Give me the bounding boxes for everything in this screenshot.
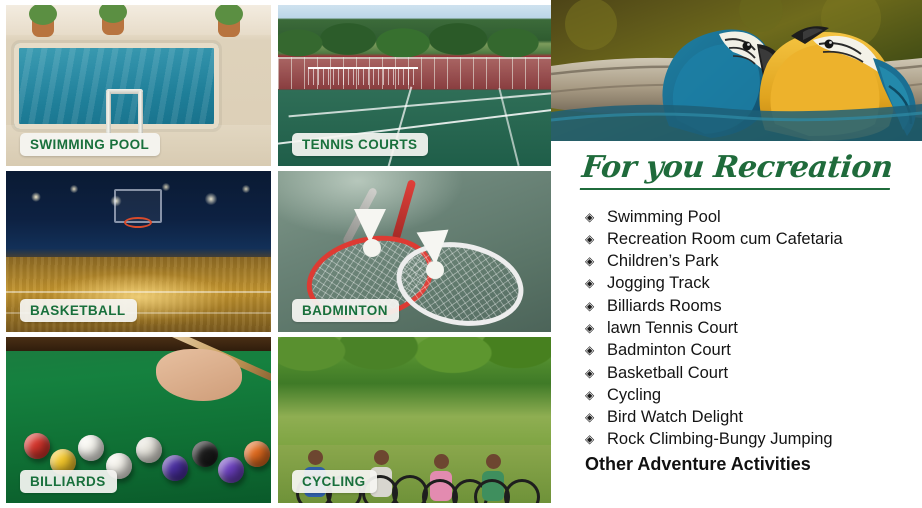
diamond-bullet-icon: ◈ [585, 406, 594, 428]
cyclist-head [374, 450, 389, 465]
diamond-bullet-icon: ◈ [585, 206, 594, 228]
list-item: ◈Children’s Park [585, 250, 922, 272]
list-item-label: Cycling [607, 386, 661, 404]
list-item-label: Swimming Pool [607, 208, 721, 226]
diamond-bullet-icon: ◈ [585, 272, 594, 294]
shuttlecock [354, 209, 386, 243]
list-item-label: Children’s Park [607, 252, 719, 270]
list-item: ◈Swimming Pool [585, 206, 922, 228]
amenities-list: ◈Swimming Pool ◈Recreation Room cum Cafe… [551, 206, 922, 451]
court-line [289, 87, 551, 118]
other-activities-label: Other Adventure Activities [585, 454, 922, 475]
billiard-ball [192, 441, 218, 467]
macaw-illustration [551, 0, 922, 141]
shuttlecock-cork [363, 239, 381, 257]
list-item-label: Rock Climbing-Bungy Jumping [607, 430, 833, 448]
recreation-text-panel: For you Recreation ◈Swimming Pool ◈Recre… [551, 141, 922, 508]
list-item: ◈Recreation Room cum Cafetaria [585, 228, 922, 250]
photo-label-tennis-courts: TENNIS COURTS [292, 133, 428, 157]
table-rail [6, 337, 271, 351]
cyclist-head [308, 450, 323, 465]
list-item-label: Recreation Room cum Cafetaria [607, 230, 843, 248]
cyclist-head [434, 454, 449, 469]
racket-handle [392, 179, 417, 241]
list-item-label: Billiards Rooms [607, 297, 722, 315]
hoop-rim [124, 217, 152, 228]
photo-card-tennis-courts[interactable]: TENNIS COURTS [278, 5, 551, 166]
player-hand [156, 349, 242, 401]
diamond-bullet-icon: ◈ [585, 250, 594, 272]
diamond-bullet-icon: ◈ [585, 317, 594, 339]
tree-canopy [278, 337, 551, 397]
pool-ladder-rail [106, 91, 111, 135]
court-line [498, 88, 519, 166]
photo-label-billiards: BILLIARDS [20, 470, 117, 494]
billiard-ball [218, 457, 244, 483]
diamond-bullet-icon: ◈ [585, 428, 594, 450]
billiard-ball [24, 433, 50, 459]
list-item: ◈Bird Watch Delight [585, 406, 922, 428]
billiard-ball [162, 455, 188, 481]
macaw-banner-image [551, 0, 922, 141]
billiard-ball [244, 441, 270, 467]
photo-card-basketball[interactable]: BASKETBALL [6, 171, 271, 332]
list-item: ◈Rock Climbing-Bungy Jumping [585, 428, 922, 450]
photo-label-basketball: BASKETBALL [20, 299, 137, 323]
photo-card-billiards[interactable]: BILLIARDS [6, 337, 271, 503]
photo-card-swimming-pool[interactable]: SWIMMING POOL [6, 5, 271, 166]
photo-label-swimming-pool: SWIMMING POOL [20, 133, 160, 157]
cyclist-head [486, 454, 501, 469]
list-item-label: lawn Tennis Court [607, 319, 738, 337]
shuttlecock-cork [426, 261, 444, 279]
photo-card-cycling[interactable]: CYCLING [278, 337, 551, 503]
diamond-bullet-icon: ◈ [585, 384, 594, 406]
photo-card-badminton[interactable]: BADMINTON [278, 171, 551, 332]
list-item: ◈Cycling [585, 384, 922, 406]
list-item-label: Basketball Court [607, 364, 728, 382]
list-item-label: Bird Watch Delight [607, 408, 743, 426]
cyclist [430, 454, 452, 501]
court-line [6, 291, 271, 293]
diamond-bullet-icon: ◈ [585, 339, 594, 361]
billiard-ball [136, 437, 162, 463]
diamond-bullet-icon: ◈ [585, 228, 594, 250]
list-item: ◈Billiards Rooms [585, 295, 922, 317]
list-item: ◈Jogging Track [585, 272, 922, 294]
list-item-label: Jogging Track [607, 274, 710, 292]
list-item: ◈Basketball Court [585, 362, 922, 384]
diamond-bullet-icon: ◈ [585, 362, 594, 384]
billiard-ball [78, 435, 104, 461]
pool-ladder-rail [138, 91, 143, 135]
list-item-label: Badminton Court [607, 341, 731, 359]
diamond-bullet-icon: ◈ [585, 295, 594, 317]
amenities-photo-grid: SWIMMING POOL TENNIS COURTS [6, 5, 551, 503]
recreation-amenities-slide: SWIMMING POOL TENNIS COURTS [0, 0, 922, 508]
list-item: ◈lawn Tennis Court [585, 317, 922, 339]
cyclist [482, 454, 504, 501]
photo-label-badminton: BADMINTON [292, 299, 399, 323]
list-item: ◈Badminton Court [585, 339, 922, 361]
pool-water [14, 43, 219, 129]
tennis-net [308, 67, 418, 85]
panel-title: For you Recreation [579, 151, 893, 190]
photo-label-cycling: CYCLING [292, 470, 377, 494]
